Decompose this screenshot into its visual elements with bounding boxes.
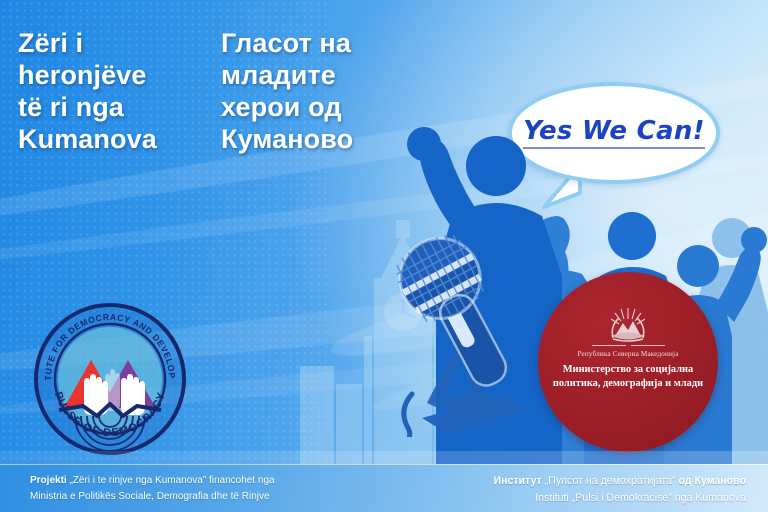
footer-left-lead: Projekti	[30, 475, 67, 486]
ministry-name: Министерство за социјална политика, демо…	[548, 363, 708, 391]
emblem-divider	[558, 345, 698, 346]
ministry-country: Република Северна Македонија	[577, 350, 678, 358]
institute-logo: INSTITUTE FOR DEMOCRACY AND DEVELOPMENT …	[31, 300, 189, 458]
footer-right: Институт „Пулсот на демохратијата” од Ку…	[493, 473, 746, 507]
footer-left-line2: Ministria e Politikës Sociale, Demografi…	[30, 489, 275, 505]
footer-right-line2: Instituti „Pulsi i Demokracise” nga Kuma…	[493, 490, 746, 507]
footer-bar: Projekti „Zëri i te rinjve nga Kumanova”…	[0, 464, 768, 512]
poster-canvas: Zëri i heronjëve të ri nga Kumanova Глас…	[0, 0, 768, 512]
footer-left-line1: Projekti „Zëri i te rinjve nga Kumanova”…	[30, 473, 275, 489]
footer-right-org-name: „Пулсот на демохратијата”	[545, 475, 676, 487]
ministry-emblem: Република Северна Македонија Министерств…	[538, 272, 718, 452]
page-title-albanian: Zëri i heronjëve të ri nga Kumanova	[0, 28, 207, 155]
coat-of-arms-icon	[605, 306, 651, 342]
microphone-icon	[378, 222, 538, 437]
footer-left: Projekti „Zëri i te rinjve nga Kumanova”…	[30, 473, 275, 505]
footer-right-org-prefix: Институт	[493, 475, 544, 487]
footer-right-line1: Институт „Пулсот на демохратијата” од Ку…	[493, 473, 746, 490]
footer-right-org-city: од Куманово	[676, 475, 746, 487]
footer-left-line1-rest: „Zëri i te rinjve nga Kumanova” financoh…	[67, 475, 275, 486]
poster-titles: Zëri i heronjëve të ri nga Kumanova Глас…	[0, 28, 430, 155]
